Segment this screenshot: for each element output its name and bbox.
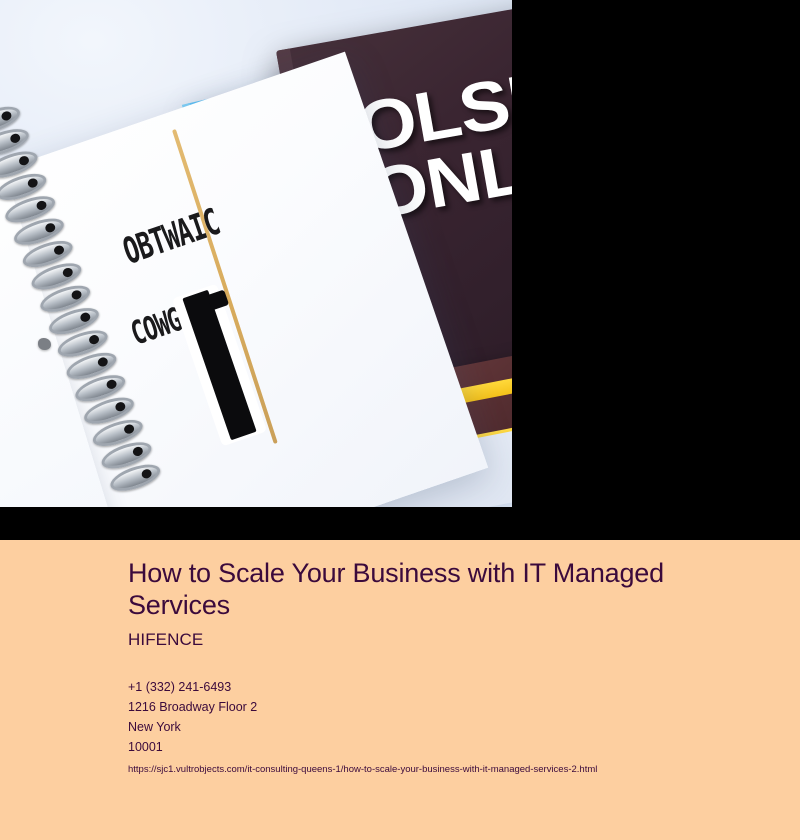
brand-name: HIFENCE [128,630,768,650]
hero-photo: COLSI CONLI [0,0,512,507]
source-url[interactable]: https://sjc1.vultrobjects.com/it-consult… [128,763,768,777]
contact-city: New York [128,717,768,737]
contact-block: +1 (332) 241-6493 1216 Broadway Floor 2 … [128,677,768,758]
hero-banner: COLSI CONLI [0,0,800,540]
contact-postal-code: 10001 [128,737,768,757]
page-title: How to Scale Your Business with IT Manag… [128,558,768,621]
article-content: How to Scale Your Business with IT Manag… [128,558,768,777]
contact-street: 1216 Broadway Floor 2 [128,697,768,717]
paper-speck [38,338,51,350]
contact-phone[interactable]: +1 (332) 241-6493 [128,677,768,697]
